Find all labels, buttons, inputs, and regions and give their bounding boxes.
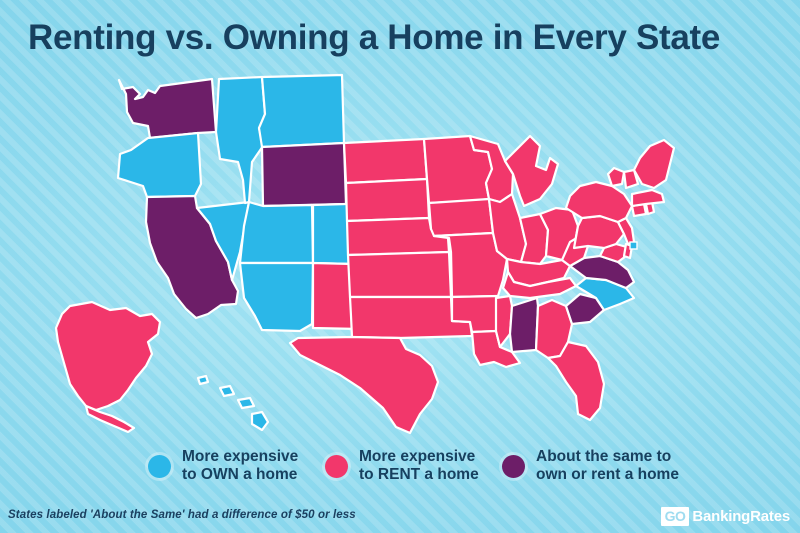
map-state-ak[interactable] <box>56 302 160 410</box>
legend-swatch-rent-icon <box>325 455 348 478</box>
legend-label-same: About the same to own or rent a home <box>536 448 679 484</box>
legend-item-same[interactable]: About the same to own or rent a home <box>502 448 679 484</box>
map-state-hi[interactable] <box>220 386 234 396</box>
map-state-sd[interactable] <box>346 179 429 221</box>
legend-swatch-own-icon <box>148 455 171 478</box>
map-state-az[interactable] <box>240 263 313 331</box>
legend-item-own[interactable]: More expensive to OWN a home <box>148 448 298 484</box>
legend-label-rent: More expensive to RENT a home <box>359 448 479 484</box>
map-state-hi[interactable] <box>198 376 208 384</box>
map-state-ny[interactable] <box>566 182 632 222</box>
logo-mark-icon: GO <box>661 507 690 526</box>
map-state-tx[interactable] <box>290 337 438 433</box>
map-state-dc[interactable] <box>630 242 637 249</box>
legend-label-own: More expensive to OWN a home <box>182 448 298 484</box>
map-state-ma[interactable] <box>632 190 664 206</box>
map-state-ak[interactable] <box>86 406 134 432</box>
page-title: Renting vs. Owning a Home in Every State <box>28 16 788 60</box>
footnote: States labeled 'About the Same' had a di… <box>8 509 356 521</box>
map-state-hi[interactable] <box>252 412 268 430</box>
map-state-ut[interactable] <box>240 202 313 263</box>
map-state-wa[interactable] <box>119 79 216 138</box>
infographic-canvas: Renting vs. Owning a Home in Every State… <box>0 0 800 533</box>
map-state-wy[interactable] <box>262 143 346 206</box>
legend-label-rent-line1: More expensive <box>359 448 479 466</box>
map-state-id[interactable] <box>216 77 265 203</box>
map-state-vt[interactable] <box>608 168 624 186</box>
map-legend: More expensive to OWN a home More expens… <box>0 446 800 498</box>
gobankingrates-logo[interactable]: GO BankingRates <box>661 506 790 527</box>
map-state-hi[interactable] <box>238 398 254 408</box>
map-state-mt[interactable] <box>259 75 344 147</box>
map-state-ia[interactable] <box>429 199 493 236</box>
legend-label-same-line2: own or rent a home <box>536 466 679 484</box>
map-state-al[interactable] <box>510 298 538 352</box>
map-state-or[interactable] <box>118 133 201 197</box>
legend-label-same-line1: About the same to <box>536 448 679 466</box>
legend-label-own-line2: to OWN a home <box>182 466 298 484</box>
map-svg <box>0 66 800 436</box>
map-state-ks[interactable] <box>348 252 451 297</box>
legend-swatch-same-icon <box>502 455 525 478</box>
legend-item-rent[interactable]: More expensive to RENT a home <box>325 448 479 484</box>
logo-wordmark: BankingRates <box>692 508 790 525</box>
us-choropleth-map <box>0 66 800 436</box>
map-state-me[interactable] <box>634 140 674 188</box>
legend-label-rent-line2: to RENT a home <box>359 466 479 484</box>
legend-label-own-line1: More expensive <box>182 448 298 466</box>
map-state-nd[interactable] <box>344 139 427 183</box>
